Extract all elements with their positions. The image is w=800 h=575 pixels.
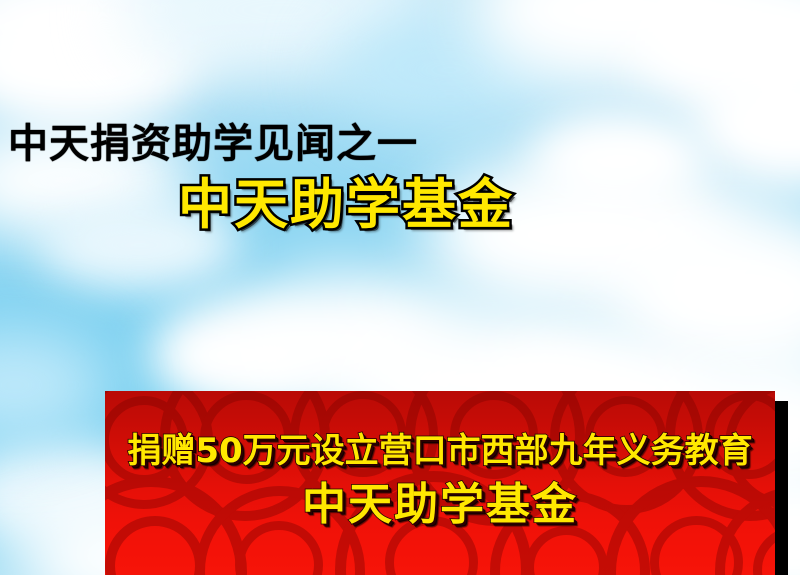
banner-line-2: 中天助学基金 <box>105 483 775 527</box>
poster-main-title: 中天助学基金 <box>178 178 514 232</box>
banner-drop-shadow <box>775 401 788 575</box>
banner-line-1: 捐赠50万元设立营口市西部九年义务教育 <box>105 434 775 468</box>
red-banner: 捐赠50万元设立营口市西部九年义务教育 中天助学基金 <box>105 391 775 575</box>
cloud-shape <box>530 110 710 210</box>
cloud-shape <box>0 330 110 440</box>
poster-headline: 中天捐资助学见闻之一 <box>8 124 418 164</box>
poster-canvas: 中天捐资助学见闻之一 中天助学基金 <box>0 0 800 575</box>
